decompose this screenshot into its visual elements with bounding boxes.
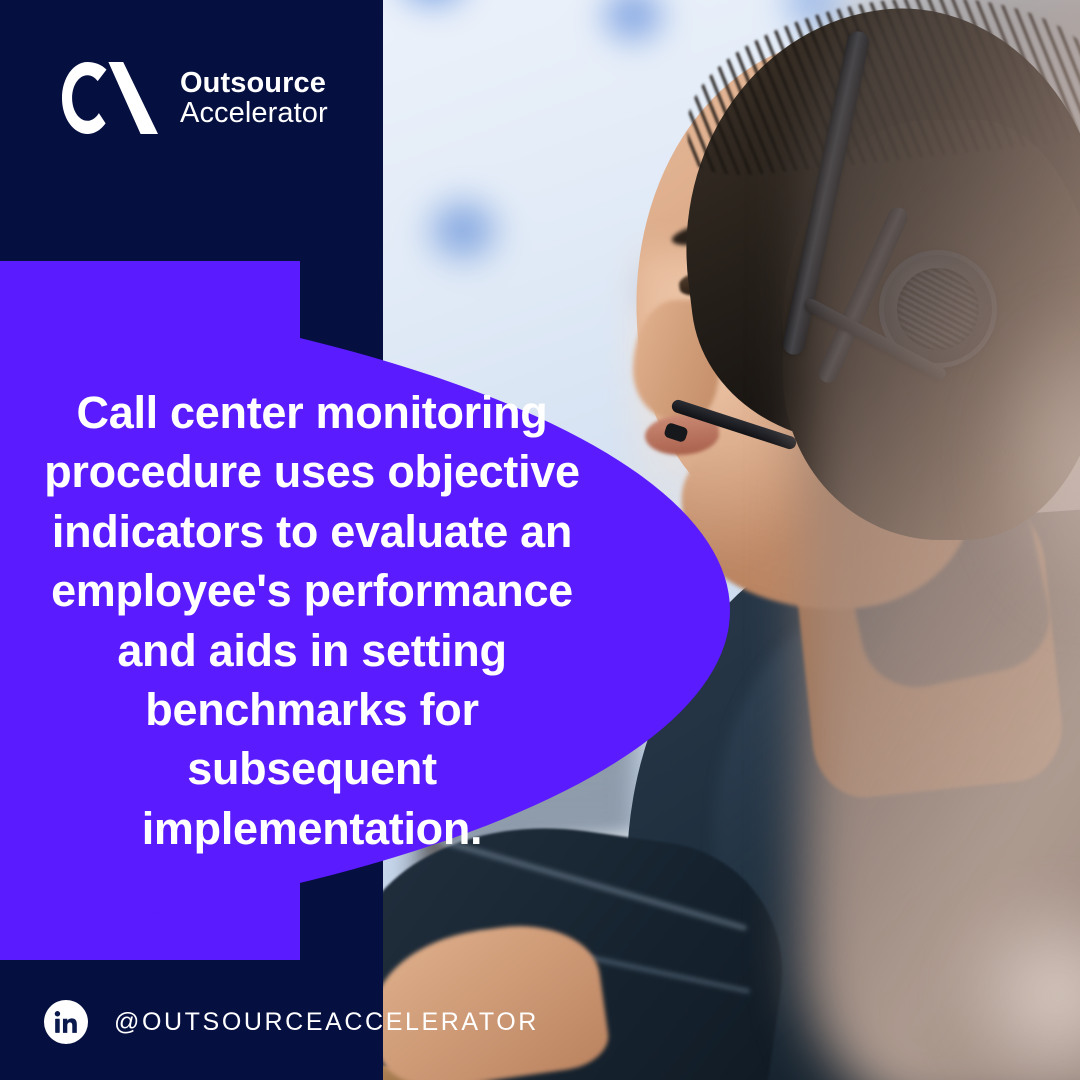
- social-handle-text: @OUTSOURCEACCELERATOR: [114, 1008, 539, 1037]
- brand-logo[interactable]: Outsource Accelerator: [62, 62, 328, 134]
- foreground-highlight: [943, 880, 1080, 1080]
- linkedin-icon[interactable]: [44, 1000, 88, 1044]
- social-handle-group[interactable]: @OUTSOURCEACCELERATOR: [44, 1000, 539, 1044]
- social-media-card: Outsource Accelerator Call center monito…: [0, 0, 1080, 1080]
- oa-monogram-icon: [62, 62, 158, 134]
- brand-name-line2: Accelerator: [180, 98, 328, 128]
- brand-name-line1: Outsource: [180, 68, 328, 98]
- brand-wordmark: Outsource Accelerator: [180, 68, 328, 128]
- headline-text: Call center monitoring procedure uses ob…: [22, 383, 602, 858]
- foreground-highlight-upper: [983, 300, 1080, 620]
